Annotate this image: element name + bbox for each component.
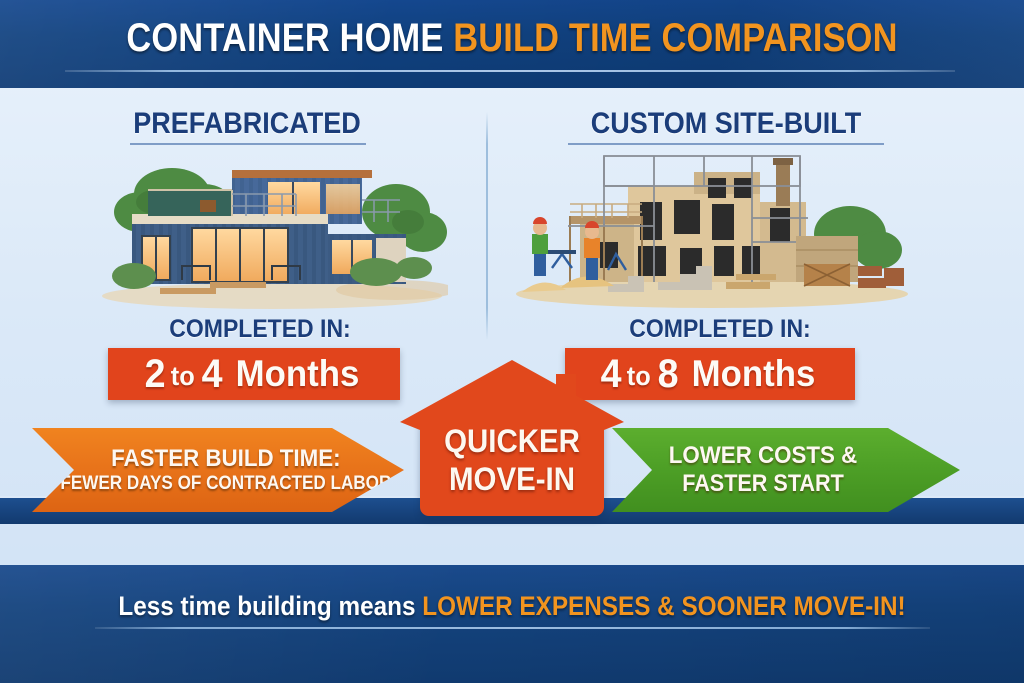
duration-from-left: 2 [145, 353, 166, 395]
benefit-arrow-left: FASTER BUILD TIME: FEWER DAYS OF CONTRAC… [32, 428, 404, 512]
header-divider [65, 70, 955, 72]
footer-message-accent: LOWER EXPENSES & SOONER MOVE-IN [422, 591, 897, 621]
page-title-primary: CONTAINER HOME [126, 16, 443, 60]
badge-line1: QUICKER [407, 422, 617, 460]
duration-unit-left: Months [227, 353, 359, 395]
page-title: CONTAINER HOME BUILD TIME COMPARISON [72, 16, 953, 60]
worker-left [532, 217, 548, 276]
benefit-arrow-left-line2: FEWER DAYS OF CONTRACTED LABOR [60, 472, 391, 495]
duration-box-left: 2 to 4 Months [108, 348, 400, 400]
header-banner: CONTAINER HOME BUILD TIME COMPARISON [0, 0, 1024, 88]
completed-label-right: COMPLETED IN: [577, 315, 862, 343]
page-title-accent: BUILD TIME COMPARISON [453, 16, 897, 60]
column-title-prefabricated: PREFABRICATED [81, 108, 414, 140]
infographic-canvas: CONTAINER HOME BUILD TIME COMPARISON PRE… [0, 0, 1024, 683]
column-title-underline-left [130, 143, 366, 145]
site-built-construction-illustration [508, 142, 912, 310]
column-title-custom-site-built: CUSTOM SITE-BUILT [542, 108, 909, 140]
duration-to-left: 4 [202, 353, 223, 395]
footer-message: Less time building means LOWER EXPENSES … [51, 590, 973, 622]
duration-to-right: 8 [658, 353, 679, 395]
footer-banner: Less time building means LOWER EXPENSES … [0, 565, 1024, 683]
column-divider [486, 112, 488, 340]
quicker-move-in-badge: QUICKER MOVE-IN [398, 358, 626, 516]
benefit-arrow-right-line1: LOWER COSTS & [636, 442, 891, 470]
duration-connector-right: to [624, 355, 656, 397]
worker-right [584, 221, 600, 280]
benefit-arrow-left-line1: FASTER BUILD TIME: [55, 445, 397, 472]
completed-label-left: COMPLETED IN: [122, 315, 398, 343]
benefit-arrow-right-line2: FASTER START [640, 470, 887, 498]
house-roof-icon [398, 358, 626, 430]
benefit-arrow-right: LOWER COSTS & FASTER START [612, 428, 960, 512]
footer-message-end: ! [897, 591, 905, 621]
footer-divider [95, 627, 930, 629]
badge-text: QUICKER MOVE-IN [407, 422, 617, 498]
duration-connector-left: to [168, 355, 200, 397]
duration-unit-right: Months [683, 353, 815, 395]
benefit-arrow-right-text: LOWER COSTS & FASTER START [612, 442, 960, 498]
prefabricated-home-illustration [96, 150, 448, 310]
footer-message-plain: Less time building means [118, 591, 422, 621]
badge-line2: MOVE-IN [407, 460, 617, 498]
